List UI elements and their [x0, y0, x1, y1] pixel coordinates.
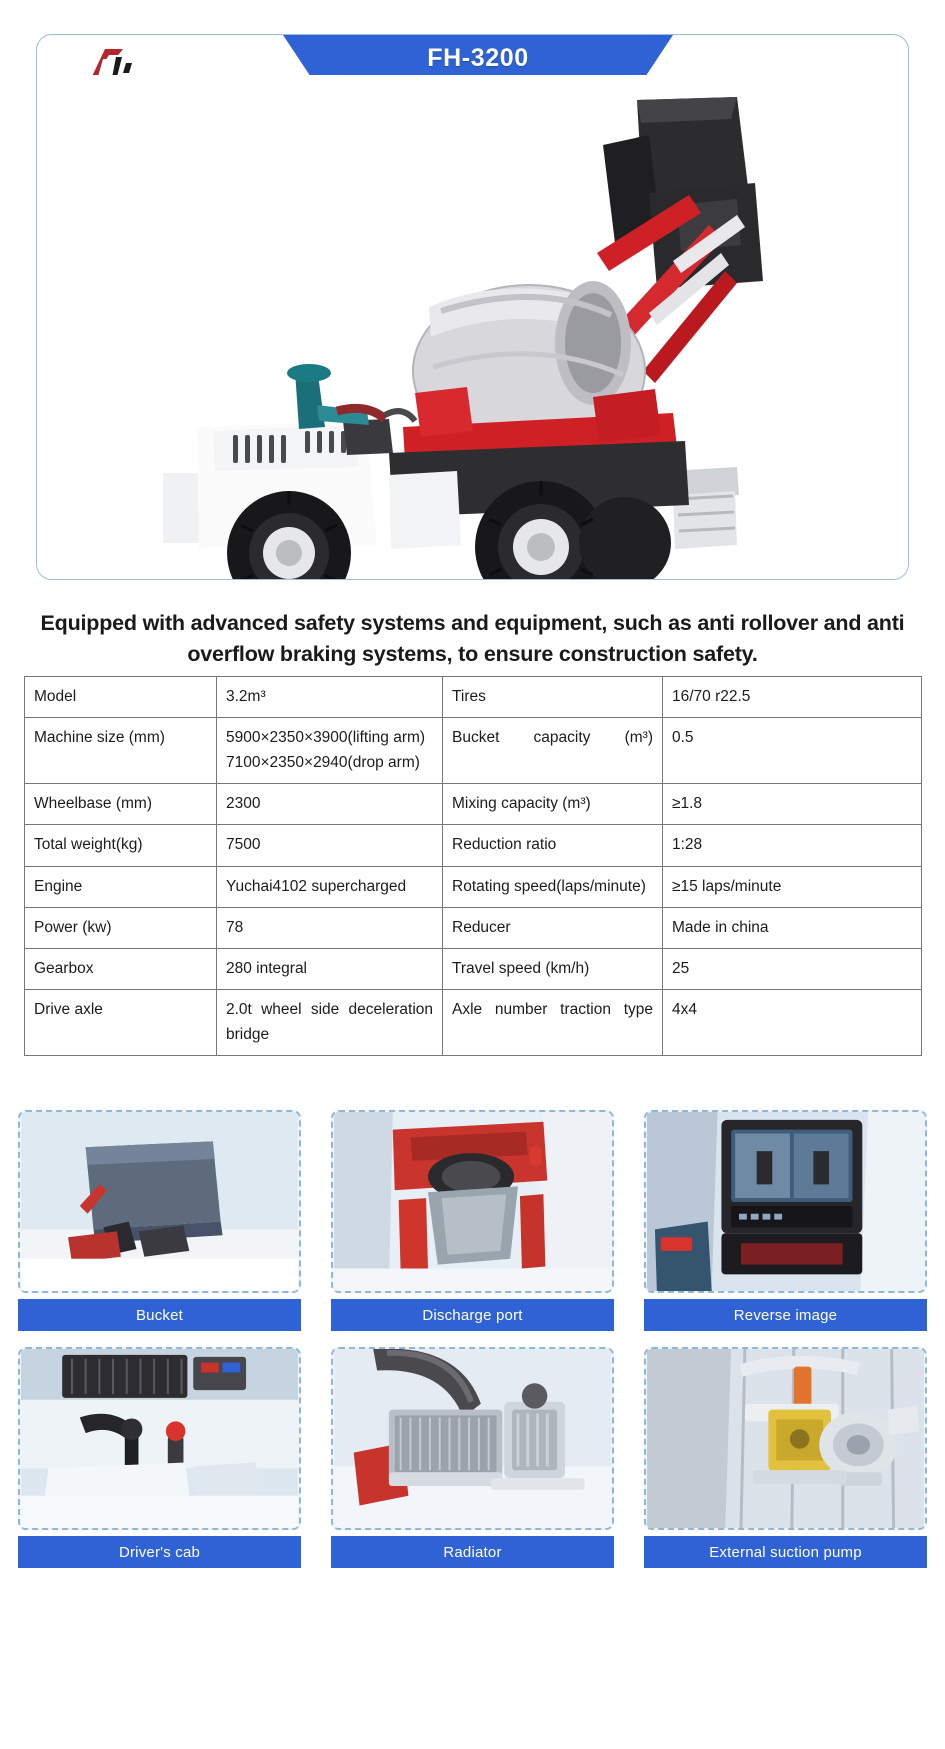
radiator-photo — [333, 1349, 612, 1528]
spec-value: 280 integral — [217, 948, 443, 989]
gallery-item-discharge-port[interactable]: Discharge port — [331, 1110, 614, 1331]
spec-value2: ≥1.8 — [663, 784, 922, 825]
spec-label2: Bucket capacity (m³) — [443, 718, 663, 784]
gallery-photo-frame — [644, 1110, 927, 1293]
gallery-caption: External suction pump — [644, 1536, 927, 1568]
spec-value: 2300 — [217, 784, 443, 825]
feature-gallery: Bucket Discharge port — [18, 1110, 927, 1568]
gallery-item-reverse-image[interactable]: Reverse image — [644, 1110, 927, 1331]
bucket-photo — [20, 1112, 299, 1291]
hero-product-photo — [37, 75, 909, 580]
gallery-photo-frame — [331, 1347, 614, 1530]
reverse-image-photo — [646, 1112, 925, 1291]
specification-table: Model 3.2m³ Tires 16/70 r22.5 Machine si… — [24, 676, 922, 1056]
spec-label: Gearbox — [25, 948, 217, 989]
headline-text: Equipped with advanced safety systems an… — [26, 608, 919, 669]
spec-value2: ≥15 laps/minute — [663, 866, 922, 907]
table-row: Engine Yuchai4102 supercharged Rotating … — [25, 866, 922, 907]
gallery-caption: Discharge port — [331, 1299, 614, 1331]
gallery-photo-frame — [644, 1347, 927, 1530]
gallery-photo-frame — [18, 1347, 301, 1530]
spec-label: Wheelbase (mm) — [25, 784, 217, 825]
spec-label2: Tires — [443, 677, 663, 718]
table-row: Wheelbase (mm) 2300 Mixing capacity (m³)… — [25, 784, 922, 825]
spec-label2: Mixing capacity (m³) — [443, 784, 663, 825]
spec-label2: Travel speed (km/h) — [443, 948, 663, 989]
drivers-cab-photo — [20, 1349, 299, 1528]
gallery-item-radiator[interactable]: Radiator — [331, 1347, 614, 1568]
spec-value2: 16/70 r22.5 — [663, 677, 922, 718]
gallery-item-bucket[interactable]: Bucket — [18, 1110, 301, 1331]
table-row: Model 3.2m³ Tires 16/70 r22.5 — [25, 677, 922, 718]
external-suction-pump-photo — [646, 1349, 925, 1528]
gallery-caption: Reverse image — [644, 1299, 927, 1331]
spec-value: 2.0t wheel side deceleration bridge — [217, 989, 443, 1055]
spec-label: Total weight(kg) — [25, 825, 217, 866]
table-row: Gearbox 280 integral Travel speed (km/h)… — [25, 948, 922, 989]
discharge-port-photo — [333, 1112, 612, 1291]
product-hero-card: GONGWO FH-3200 — [36, 34, 909, 580]
spec-value2: 25 — [663, 948, 922, 989]
gallery-caption: Radiator — [331, 1536, 614, 1568]
gallery-item-external-suction-pump[interactable]: External suction pump — [644, 1347, 927, 1568]
spec-label2: Reducer — [443, 907, 663, 948]
spec-label: Model — [25, 677, 217, 718]
spec-label: Engine — [25, 866, 217, 907]
spec-value2: Made in china — [663, 907, 922, 948]
spec-value2: 4x4 — [663, 989, 922, 1055]
spec-label2: Reduction ratio — [443, 825, 663, 866]
spec-value2: 0.5 — [663, 718, 922, 784]
gallery-photo-frame — [18, 1110, 301, 1293]
spec-label: Power (kw) — [25, 907, 217, 948]
spec-value2: 1:28 — [663, 825, 922, 866]
table-row: Total weight(kg) 7500 Reduction ratio 1:… — [25, 825, 922, 866]
gallery-photo-frame — [331, 1110, 614, 1293]
table-row: Power (kw) 78 Reducer Made in china — [25, 907, 922, 948]
spec-value: 78 — [217, 907, 443, 948]
spec-value: 5900×2350×3900(lifting arm) 7100×2350×29… — [217, 718, 443, 784]
gallery-caption: Bucket — [18, 1299, 301, 1331]
spec-value: 7500 — [217, 825, 443, 866]
spec-value: Yuchai4102 supercharged — [217, 866, 443, 907]
table-row: Machine size (mm) 5900×2350×3900(lifting… — [25, 718, 922, 784]
gallery-item-drivers-cab[interactable]: Driver's cab — [18, 1347, 301, 1568]
spec-label2: Axle number traction type — [443, 989, 663, 1055]
spec-label: Drive axle — [25, 989, 217, 1055]
spec-label2: Rotating speed(laps/minute) — [443, 866, 663, 907]
spec-label: Machine size (mm) — [25, 718, 217, 784]
table-row: Drive axle 2.0t wheel side deceleration … — [25, 989, 922, 1055]
spec-value: 3.2m³ — [217, 677, 443, 718]
gallery-caption: Driver's cab — [18, 1536, 301, 1568]
